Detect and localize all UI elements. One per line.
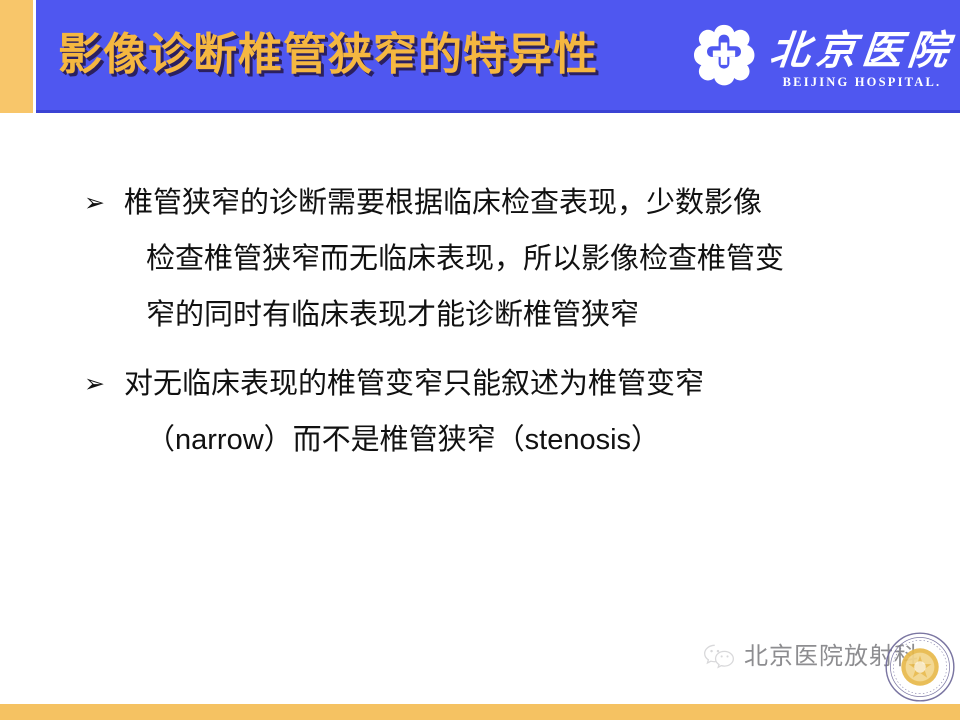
bullet-line: 对无临床表现的椎管变窄只能叙述为椎管变窄 [124,356,884,412]
department-seal-badge-icon [884,631,956,703]
bullet-line: （narrow）而不是椎管狭窄（stenosis） [124,412,884,468]
hospital-name-en: BEIJING HOSPITAL. [783,74,942,90]
hospital-logo: 北京医院 BEIJING HOSPITAL. [688,22,954,94]
bullet-arrow-icon: ➢ [84,175,124,231]
presentation-slide: 影像诊断椎管狭窄的特异性 北京医院 BEIJING HOSPITAL. ➢ [0,0,960,720]
slide-content: ➢ 椎管狭窄的诊断需要根据临床检查表现，少数影像 检查椎管狭窄而无临床表现，所以… [0,113,960,704]
bullet-line: 窄的同时有临床表现才能诊断椎管狭窄 [124,287,884,343]
bullet-line: 检查椎管狭窄而无临床表现，所以影像检查椎管变 [124,231,884,287]
bullet-text-block: 椎管狭窄的诊断需要根据临床检查表现，少数影像 检查椎管狭窄而无临床表现，所以影像… [124,175,884,343]
hospital-wordmark: 北京医院 BEIJING HOSPITAL. [770,27,954,90]
wechat-icon [702,642,736,672]
beijing-hospital-emblem-icon [688,22,760,94]
bullet-arrow-icon: ➢ [84,356,124,412]
hospital-name-cn: 北京医院 [768,29,957,73]
header-left-accent-bar [0,0,33,113]
bottom-accent-bar [0,704,960,720]
bullet-item: ➢ 椎管狭窄的诊断需要根据临床检查表现，少数影像 检查椎管狭窄而无临床表现，所以… [84,175,884,343]
slide-title: 影像诊断椎管狭窄的特异性 [58,27,598,83]
bullet-item: ➢ 对无临床表现的椎管变窄只能叙述为椎管变窄 （narrow）而不是椎管狭窄（s… [84,356,884,468]
bullet-line: 椎管狭窄的诊断需要根据临床检查表现，少数影像 [124,175,884,231]
bullet-text-block: 对无临床表现的椎管变窄只能叙述为椎管变窄 （narrow）而不是椎管狭窄（ste… [124,356,884,468]
